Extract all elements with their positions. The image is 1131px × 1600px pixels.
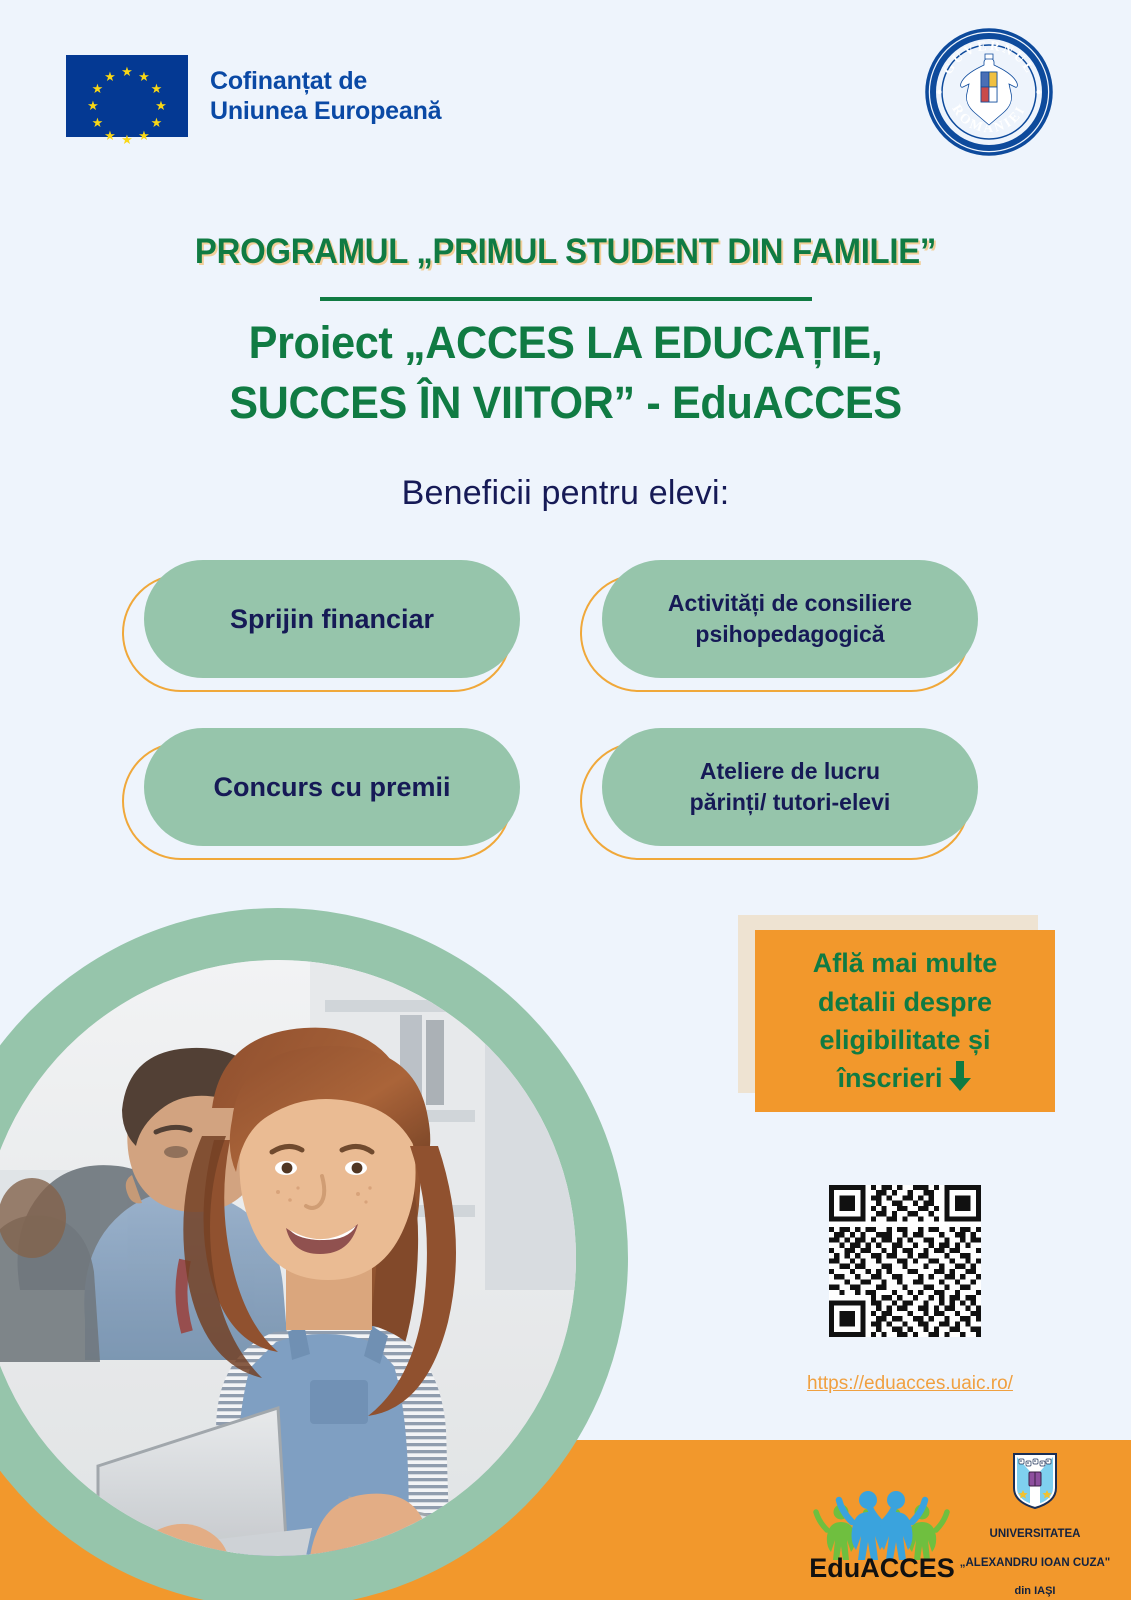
people-icon [816, 1491, 947, 1560]
benefit-label: Concurs cu premii [213, 769, 450, 805]
qr-code-icon [829, 1185, 981, 1337]
pill-fill-shape: Activități de consiliere psihopedagogică [602, 560, 978, 678]
uaic-shield-icon [1012, 1452, 1058, 1510]
benefits-section-label: Beneficii pentru elevi: [0, 474, 1131, 513]
benefit-label: Ateliere de lucru părinți/ tutori-elevi [690, 756, 891, 818]
european-union-flag-icon: ★ ★ ★ ★ ★ ★ ★ ★ ★ ★ ★ ★ [66, 55, 188, 137]
poster: ★ ★ ★ ★ ★ ★ ★ ★ ★ ★ ★ ★ Cofinanțat de Un… [0, 0, 1131, 1600]
eu-cofinance-label: Cofinanțat de Uniunea Europeană [210, 66, 441, 127]
pill-fill-shape: Sprijin financiar [144, 560, 520, 678]
pill-fill-shape: Concurs cu premii [144, 728, 520, 846]
callout-box: Află mai multe detalii despre eligibilit… [755, 930, 1055, 1112]
eduacces-wordmark: EduACCES [810, 1553, 955, 1580]
project-title: Proiect „ACCES LA EDUCAȚIE, SUCCES ÎN VI… [23, 313, 1109, 433]
classroom-photo-illustration [0, 960, 576, 1556]
uaic-line-3: din IAŞI [944, 1585, 1126, 1599]
students-photo-circle [0, 908, 628, 1600]
down-arrow-icon [947, 1061, 973, 1091]
benefit-pill-sprijin-financiar[interactable]: Sprijin financiar [122, 560, 520, 685]
qr-code[interactable] [829, 1185, 981, 1337]
eu-cofinance-logo: ★ ★ ★ ★ ★ ★ ★ ★ ★ ★ ★ ★ Cofinanțat de Un… [66, 55, 441, 137]
benefit-pill-concurs[interactable]: Concurs cu premii [122, 728, 520, 853]
eduacces-logo: EduACCES [810, 1478, 955, 1580]
project-url-link[interactable]: https://eduacces.uaic.ro/ [760, 1373, 1060, 1395]
uaic-logo: UNIVERSITATEA „ALEXANDRU IOAN CUZA" din … [944, 1452, 1126, 1584]
callout-text: Află mai multe detalii despre eligibilit… [803, 944, 1008, 1097]
uaic-line-1: UNIVERSITATEA [944, 1527, 1126, 1541]
benefit-pill-consiliere[interactable]: Activități de consiliere psihopedagogică [580, 560, 978, 685]
uaic-line-2: „ALEXANDRU IOAN CUZA" [944, 1556, 1126, 1570]
benefit-label: Activități de consiliere psihopedagogică [668, 588, 912, 650]
students-photo [0, 960, 576, 1556]
benefit-pill-ateliere[interactable]: Ateliere de lucru părinți/ tutori-elevi [580, 728, 978, 853]
title-divider [320, 297, 812, 301]
benefits-list: Sprijin financiar Activități de consilie… [0, 560, 1131, 880]
uaic-name: UNIVERSITATEA „ALEXANDRU IOAN CUZA" din … [944, 1513, 1126, 1600]
government-of-romania-seal-icon: GUVERNUL ROMÂNIEI [925, 28, 1053, 156]
pill-fill-shape: Ateliere de lucru părinți/ tutori-elevi [602, 728, 978, 846]
program-title: PROGRAMUL „PRIMUL STUDENT DIN FAMILIE” [34, 232, 1097, 272]
benefit-label: Sprijin financiar [230, 601, 434, 637]
